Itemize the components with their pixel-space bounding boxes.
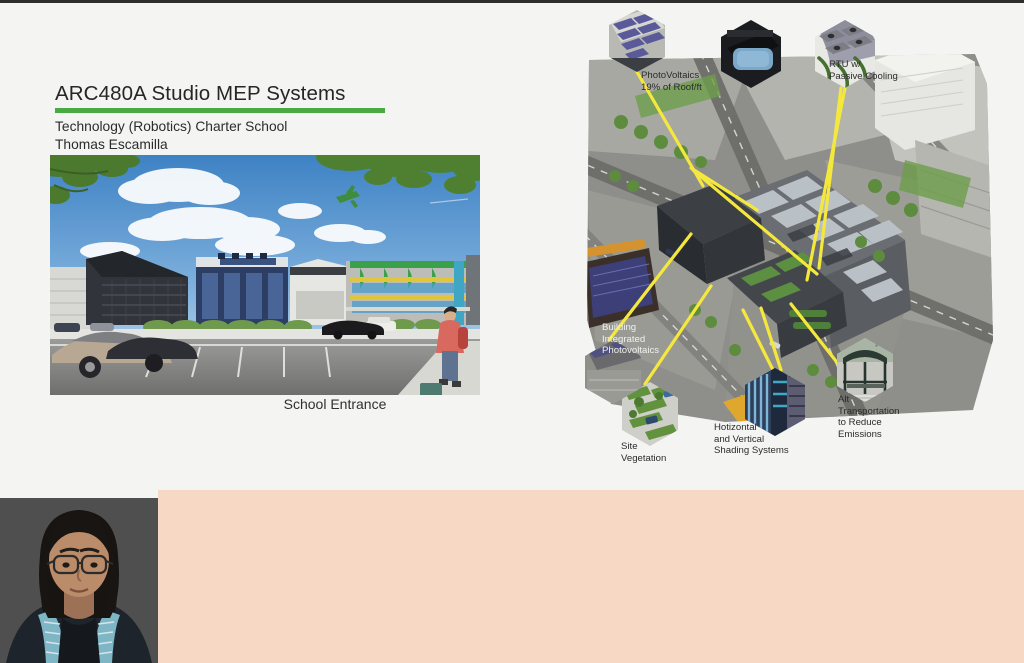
diagram-label-site-vegetation: Site Vegetation (621, 441, 666, 464)
render-caption-text: School Entrance (144, 396, 387, 412)
project-author: Thomas Escamilla (55, 136, 495, 154)
exterior-rendering-image (50, 155, 480, 395)
diagram-label-rtu: RTU w/ Passive Cooling (829, 59, 898, 82)
poster-canvas: ARC480A Studio MEP Systems Technology (R… (0, 0, 1024, 663)
student-portrait (0, 490, 158, 663)
project-subtitle: Technology (Robotics) Charter School (55, 118, 495, 136)
diagram-label-alt-transport: Alt Transportation to Reduce Emissions (838, 394, 900, 441)
diagram-label-photovoltaics: PhotoVoltaics 19% of Roof/ft (641, 70, 702, 93)
page-title: ARC480A Studio MEP Systems (55, 83, 495, 106)
title-underline-bar (55, 108, 385, 113)
diagram-label-shading: Hotizontal and Vertical Shading Systems (714, 422, 789, 457)
diagram-label-bipv: Building Integrated Photovoltaics (602, 322, 659, 357)
title-block: ARC480A Studio MEP Systems Technology (R… (55, 83, 495, 154)
render-caption: School Entrance (50, 396, 480, 412)
top-rule-divider (0, 0, 1024, 3)
